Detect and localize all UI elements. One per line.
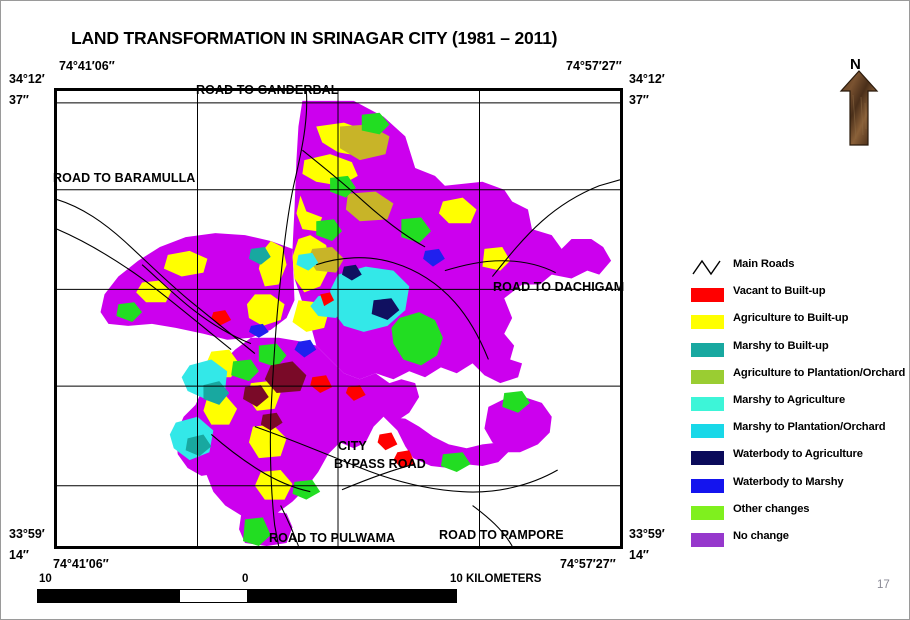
scale-segment-3 [247, 590, 456, 602]
coord-top-left-lat-1: 34°12′ [9, 72, 45, 86]
zigzag-line-icon [689, 256, 729, 278]
road-label-bypass: BYPASS ROAD [334, 457, 426, 471]
legend-label: Marshy to Built-up [733, 340, 829, 352]
coord-bottom-right-lon: 74°57′27″ [560, 557, 616, 571]
legend-item-vacant-to-builtup[interactable]: Vacant to Built-up [691, 283, 903, 310]
legend-swatch [691, 479, 724, 493]
legend-label: Agriculture to Built-up [733, 312, 848, 324]
landuse-polygons [101, 101, 612, 546]
legend-swatch [691, 451, 724, 465]
map-legend: Main Roads Vacant to Built-up Agricultur… [691, 256, 903, 555]
legend-label: Marshy to Plantation/Orchard [733, 421, 885, 433]
legend-label: Main Roads [733, 258, 794, 270]
legend-swatch [691, 288, 724, 302]
scale-segment-1 [38, 590, 180, 602]
coord-bottom-left-lon: 74°41′06″ [53, 557, 109, 571]
coord-bottom-left-lat-2: 14″ [9, 548, 29, 562]
legend-swatch [691, 424, 724, 438]
coord-top-left-lat-2: 37″ [9, 93, 29, 107]
coord-bottom-right-lat-2: 14″ [629, 548, 649, 562]
legend-swatch [691, 397, 724, 411]
road-label-ganderbal: ROAD TO GANDERBAL [196, 83, 338, 97]
legend-item-marshy-to-builtup[interactable]: Marshy to Built-up [691, 338, 903, 365]
legend-item-waterbody-to-marshy[interactable]: Waterbody to Marshy [691, 474, 903, 501]
scale-label-mid: 0 [242, 573, 248, 585]
scale-label-left: 10 [39, 573, 52, 585]
legend-item-waterbody-to-agriculture[interactable]: Waterbody to Agriculture [691, 446, 903, 473]
legend-item-marshy-to-agriculture[interactable]: Marshy to Agriculture [691, 392, 903, 419]
map-thematic-layer [57, 91, 620, 546]
page-title: LAND TRANSFORMATION IN SRINAGAR CITY (19… [71, 28, 557, 49]
road-label-city: CITY [338, 439, 367, 453]
legend-swatch [691, 343, 724, 357]
legend-swatch [691, 370, 724, 384]
legend-item-agriculture-to-plantation[interactable]: Agriculture to Plantation/Orchard [691, 365, 903, 392]
legend-label: Vacant to Built-up [733, 285, 825, 297]
legend-item-marshy-to-plantation[interactable]: Marshy to Plantation/Orchard [691, 419, 903, 446]
scale-label-right: 10 KILOMETERS [450, 573, 541, 585]
legend-item-other-changes[interactable]: Other changes [691, 501, 903, 528]
legend-swatch [691, 315, 724, 329]
road-label-pulwama: ROAD TO PULWAMA [269, 531, 395, 545]
legend-swatch [691, 533, 724, 547]
coord-top-right-lat-2: 37″ [629, 93, 649, 107]
legend-item-no-change[interactable]: No change [691, 528, 903, 555]
scale-segment-2 [180, 590, 247, 602]
legend-label: Waterbody to Marshy [733, 476, 844, 488]
legend-item-agriculture-to-builtup[interactable]: Agriculture to Built-up [691, 310, 903, 337]
legend-item-main-roads[interactable]: Main Roads [691, 256, 903, 283]
road-label-dachigam: ROAD TO DACHIGAM [493, 280, 624, 294]
road-label-baramulla: ROAD TO BARAMULLA [53, 171, 195, 185]
poly-vacant-builtup-3 [378, 432, 398, 450]
map-page: LAND TRANSFORMATION IN SRINAGAR CITY (19… [0, 0, 910, 620]
scale-bar [37, 589, 457, 603]
coord-top-right-lon: 74°57′27″ [566, 59, 622, 73]
coord-top-right-lat-1: 34°12′ [629, 72, 665, 86]
legend-label: Waterbody to Agriculture [733, 448, 863, 460]
map-canvas[interactable] [54, 88, 623, 549]
legend-label: Marshy to Agriculture [733, 394, 845, 406]
page-number: 17 [877, 579, 890, 591]
coord-top-left-lon: 74°41′06″ [59, 59, 115, 73]
legend-label: No change [733, 530, 789, 542]
legend-label: Other changes [733, 503, 809, 515]
road-label-pampore: ROAD TO PAMPORE [439, 528, 564, 542]
coord-bottom-right-lat-1: 33°59′ [629, 527, 665, 541]
legend-swatch [691, 506, 724, 520]
legend-label: Agriculture to Plantation/Orchard [733, 367, 905, 379]
north-arrow-icon [839, 69, 879, 147]
coord-bottom-left-lat-1: 33°59′ [9, 527, 45, 541]
